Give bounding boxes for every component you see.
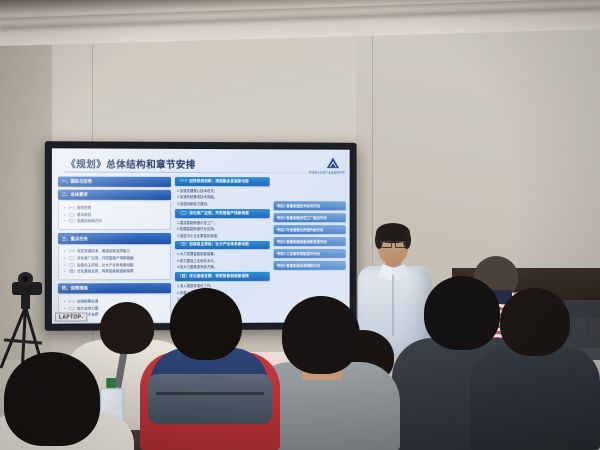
task-items: 1.加强关键核心技术攻关。 2.加速系统集成技术突破。 3.加强创新能力建设。 xyxy=(175,188,270,206)
task-header: （二）深化推广应用，开拓智能产场新局面 xyxy=(175,209,270,218)
backpack xyxy=(148,374,272,424)
section-header: 三、重点任务 xyxy=(58,233,171,243)
list-item: （四）优化基础支撑，构筑智能制造新保障 xyxy=(64,269,167,274)
slide-section: 二、总体要求 （一）指导思想 （二）基本原则 （三）发展目标和方向 xyxy=(58,190,171,230)
feature-box: 专栏2 智能制造示范工厂建设行动 xyxy=(274,213,346,222)
task-header: （三）加强自主供给，壮大产业体系新动能 xyxy=(175,241,270,250)
section-items: （一）指导思想 （二）基本原则 （三）发展目标和方向 xyxy=(58,202,171,230)
logo-caption: 中国电子信息产业发展研究院 xyxy=(309,170,345,174)
presenter-shirt-placket xyxy=(392,274,394,336)
list-item: 3.加大力度推进系统方案。 xyxy=(177,264,270,269)
tripod-neck xyxy=(21,293,30,309)
attendee-navy-shirt-head xyxy=(424,276,500,350)
slide-title-rule xyxy=(64,172,336,174)
slide-section: 三、重点任务 （一）攻坚关键技术，增强创新支撑能力 （二）深化推广应用，开拓智能… xyxy=(58,233,171,280)
list-item: （一）指导思想 xyxy=(64,206,167,211)
attendee-dark-shirt-body xyxy=(470,346,600,450)
list-item: （三）发展目标和方向 xyxy=(64,219,167,224)
slide-task-block: （三）加强自主供给，壮大产业体系新动能 1.大力发展智能制造装备。 2.着力提高… xyxy=(175,241,270,270)
glasses-icon xyxy=(381,241,392,248)
list-item: 2.拓展智能制造行业应用。 xyxy=(177,226,270,231)
list-item: （一）攻坚关键技术，增强创新支撑能力 xyxy=(64,249,167,254)
list-item: 3.促进中小企业数智化转型。 xyxy=(177,233,270,238)
list-item: （三）加强自主供给，壮大产业体系新动能 xyxy=(64,263,167,268)
task-items: 1.大力发展智能制造装备。 2.着力提高工业软件水平。 3.加大力度推进系统方案… xyxy=(175,251,270,269)
section-header: 四、保障措施 xyxy=(58,283,171,294)
attendee-foreground-head xyxy=(4,352,100,446)
screen-watermark: LAPTOP- xyxy=(55,312,87,321)
section-header: 二、总体要求 xyxy=(58,190,171,200)
feature-box: 专栏1 智能制造技术攻关行动 xyxy=(274,201,346,210)
list-item: 2.加速系统集成技术突破。 xyxy=(177,194,270,199)
list-item: 2.着力提高工业软件水平。 xyxy=(177,258,270,263)
slide-section: 一、国际与形势 xyxy=(58,177,171,188)
organization-logo-icon xyxy=(324,155,341,172)
feature-box: 专栏3 行业智能化改造升级行动 xyxy=(274,225,346,234)
attendee-white-shirt-head xyxy=(100,302,154,354)
attendee-gray-shirt-head xyxy=(282,296,360,374)
camera-lens-icon xyxy=(22,276,28,282)
slide-task-block: （一）加快系统创新，增强融合发展新动能 1.加强关键核心技术攻关。 2.加速系统… xyxy=(175,177,270,206)
list-item: 1.大力发展智能制造装备。 xyxy=(177,251,270,256)
list-item: 1.深入推进标准化工作。 xyxy=(177,283,270,288)
section-header: 一、国际与形势 xyxy=(58,177,171,188)
feature-box: 专栏4 智能制造装备创新发展行动 xyxy=(274,237,346,246)
slide-title: 《规划》总体结构和章节安排 xyxy=(66,156,196,171)
task-header: （四）优化基础支撑，构筑智能制造新保障 xyxy=(175,272,270,281)
list-item: （二）基本原则 xyxy=(64,213,167,218)
list-item: 3.加强创新能力建设。 xyxy=(177,201,270,206)
list-item: 1.建设智能制造示范工厂。 xyxy=(177,220,270,225)
list-item: （二）深化推广应用，开拓智能产场新局面 xyxy=(64,256,167,261)
glasses-icon xyxy=(395,241,406,248)
conference-room-photo: 讲 台 《规划》总体结构和章节安排 中国电子信息产业发展研究院 xyxy=(0,0,600,450)
list-item: 1.加强关键核心技术攻关。 xyxy=(177,188,270,193)
slide-left-column: 一、国际与形势 二、总体要求 （一）指导思想 （二）基本原则 （三）发展目标和方… xyxy=(58,177,171,320)
feature-box: 专栏6 智能制造标准领航行动 xyxy=(274,261,346,270)
attendee-dark-shirt-head xyxy=(500,288,570,356)
task-header: （一）加快系统创新，增强融合发展新动能 xyxy=(175,177,270,186)
slide-task-block: （二）深化推广应用，开拓智能产场新局面 1.建设智能制造示范工厂。 2.拓展智能… xyxy=(175,209,270,238)
attendee-red-jacket-head xyxy=(170,288,242,360)
backpack-zipper xyxy=(156,392,264,395)
section-items: （一）攻坚关键技术，增强创新支撑能力 （二）深化推广应用，开拓智能产场新局面 （… xyxy=(58,246,171,280)
feature-box: 专栏5 工业软件突破提升行动 xyxy=(274,249,346,258)
bottle-cap xyxy=(106,378,116,388)
task-items: 1.建设智能制造示范工厂。 2.拓展智能制造行业应用。 3.促进中小企业数智化转… xyxy=(175,220,270,238)
